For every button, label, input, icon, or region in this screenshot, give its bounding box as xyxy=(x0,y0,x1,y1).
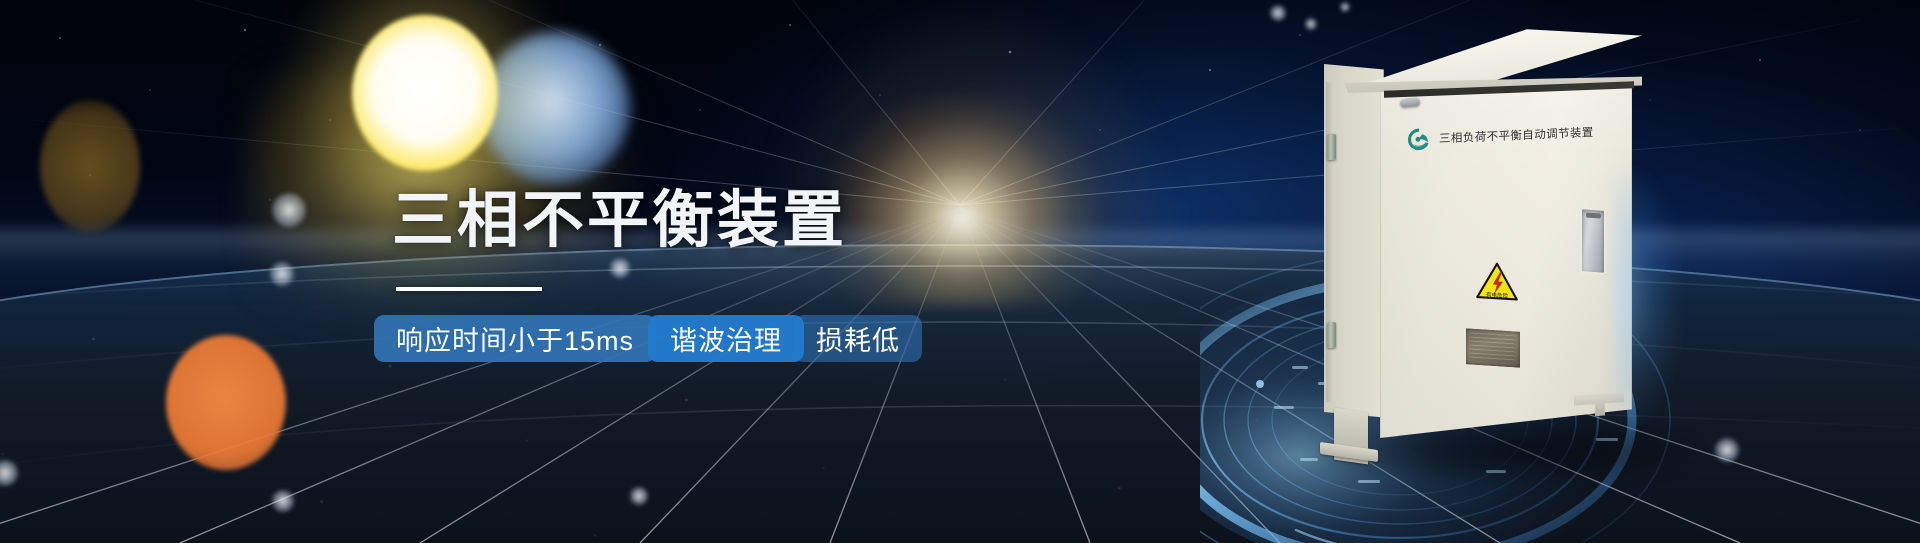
bokeh-dot xyxy=(270,262,294,286)
cabinet-brand-text: 三相负荷不平衡自动调节装置 xyxy=(1439,124,1594,146)
cabinet-vent-louvers xyxy=(1470,333,1516,364)
cabinet-hinge xyxy=(1327,322,1336,348)
feature-pill-harmonic[interactable]: 谐波治理 xyxy=(648,315,804,362)
high-voltage-warning-icon: 有电危险 xyxy=(1476,261,1518,301)
bokeh-circle-white xyxy=(352,15,498,171)
bokeh-dot xyxy=(630,487,648,505)
bokeh-dot xyxy=(1340,2,1350,12)
cabinet-hinge xyxy=(1327,134,1336,160)
cabinet-door-edge xyxy=(1326,82,1334,403)
cabinet-lower-vent xyxy=(1464,326,1522,370)
banner-text-block: 三相不平衡装置 响应时间小于15ms 谐波治理 损耗低 xyxy=(392,190,1092,362)
bokeh-circle-orange xyxy=(166,335,286,470)
company-leaf-logo xyxy=(1406,126,1432,153)
feature-pill-row: 响应时间小于15ms 谐波治理 损耗低 xyxy=(374,315,1092,362)
headline-divider xyxy=(396,287,542,291)
feature-pill-response-time[interactable]: 响应时间小于15ms xyxy=(374,315,656,362)
hero-banner: 三相不平衡装置 响应时间小于15ms 谐波治理 损耗低 xyxy=(0,0,1920,543)
product-cabinet: 三相负荷不平衡自动调节装置 有电危险 xyxy=(1300,22,1740,522)
bokeh-circle-amber xyxy=(40,100,140,232)
banner-headline: 三相不平衡装置 xyxy=(392,190,1092,252)
feature-pill-low-loss[interactable]: 损耗低 xyxy=(794,315,922,362)
cabinet-edge-glow xyxy=(1616,172,1676,422)
bokeh-circle-blue xyxy=(480,32,630,184)
cabinet-handle-slot xyxy=(1586,212,1601,218)
bokeh-dot xyxy=(272,193,306,227)
bokeh-dot xyxy=(1270,5,1286,21)
bokeh-dot xyxy=(272,490,294,512)
